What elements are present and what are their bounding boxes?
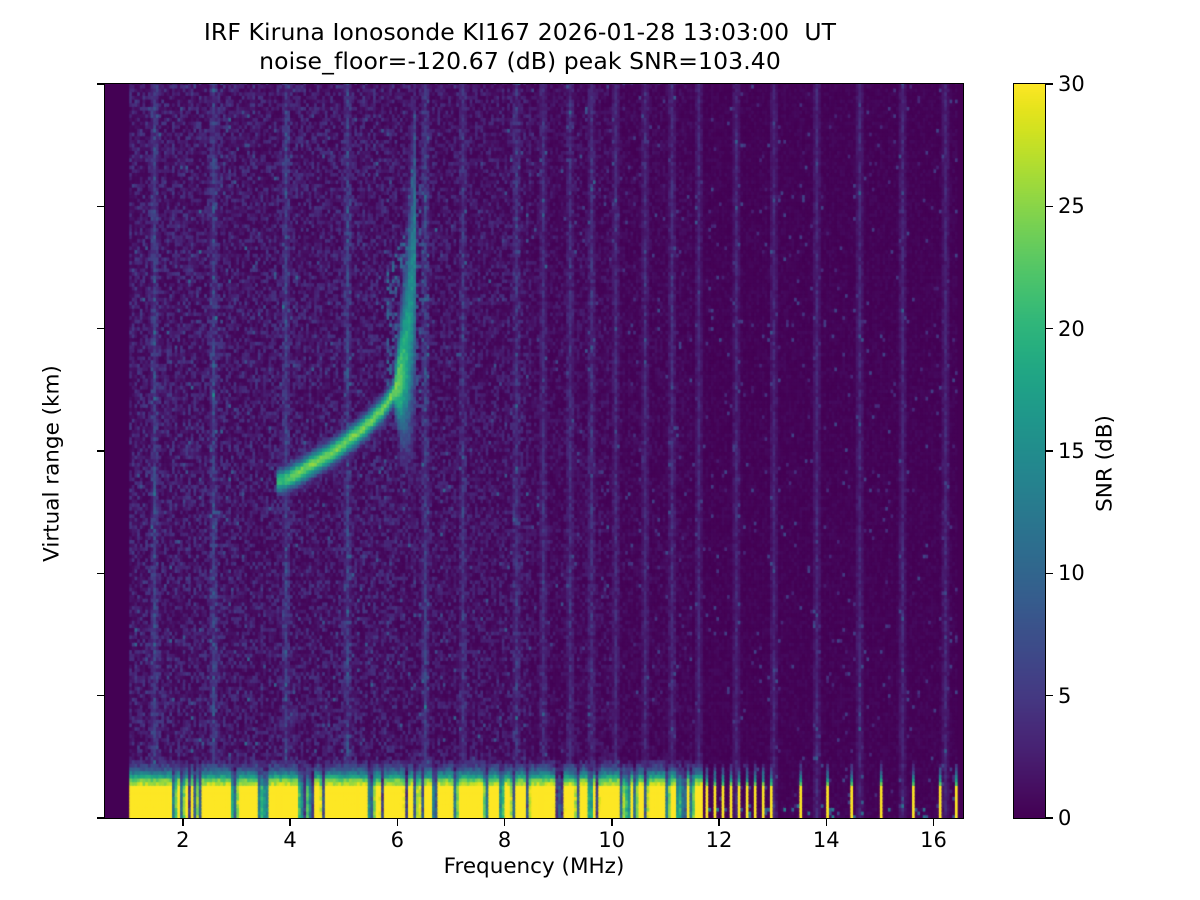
colorbar-tick-mark [1046, 450, 1053, 452]
x-tick-label: 14 [813, 828, 840, 852]
title-line-1: IRF Kiruna Ionosonde KI167 2026-01-28 13… [0, 18, 1040, 47]
x-tick-label: 12 [706, 828, 733, 852]
y-tick-mark [97, 450, 104, 452]
x-tick-label: 6 [391, 828, 404, 852]
colorbar-tick-mark [1046, 83, 1053, 85]
y-tick-mark [97, 695, 104, 697]
x-tick-label: 8 [498, 828, 511, 852]
colorbar-tick-label: 10 [1058, 561, 1085, 585]
x-tick-label: 16 [920, 828, 947, 852]
colorbar-tick-label: 5 [1058, 684, 1071, 708]
x-tick-label: 2 [176, 828, 189, 852]
ionogram-figure: IRF Kiruna Ionosonde KI167 2026-01-28 13… [0, 0, 1200, 900]
x-tick-label: 10 [598, 828, 625, 852]
colorbar-gradient [1014, 84, 1045, 818]
x-tick-mark [397, 819, 399, 826]
figure-title: IRF Kiruna Ionosonde KI167 2026-01-28 13… [0, 18, 1040, 76]
ionogram-heatmap [105, 84, 963, 818]
colorbar-tick-mark [1046, 328, 1053, 330]
colorbar-tick-mark [1046, 817, 1053, 819]
x-tick-mark [933, 819, 935, 826]
x-tick-mark [826, 819, 828, 826]
colorbar-tick-label: 30 [1058, 72, 1085, 96]
colorbar-tick-label: 20 [1058, 317, 1085, 341]
x-axis-label: Frequency (MHz) [104, 854, 964, 879]
ionogram-plot-area [104, 83, 964, 819]
colorbar-tick-label: 25 [1058, 194, 1085, 218]
x-tick-mark [289, 819, 291, 826]
x-tick-mark [611, 819, 613, 826]
y-axis-label: Virtual range (km) [40, 164, 65, 764]
title-line-2: noise_floor=-120.67 (dB) peak SNR=103.40 [0, 47, 1040, 76]
y-tick-mark [97, 206, 104, 208]
x-tick-mark [504, 819, 506, 826]
y-tick-mark [97, 817, 104, 819]
y-tick-mark [97, 573, 104, 575]
y-tick-mark [97, 328, 104, 330]
x-tick-label: 4 [283, 828, 296, 852]
y-tick-mark [97, 83, 104, 85]
colorbar-tick-mark [1046, 206, 1053, 208]
x-tick-mark [718, 819, 720, 826]
colorbar-tick-label: 0 [1058, 806, 1071, 830]
colorbar-label: SNR (dB) [1093, 164, 1118, 764]
x-tick-mark [182, 819, 184, 826]
colorbar-tick-label: 15 [1058, 439, 1085, 463]
colorbar-tick-mark [1046, 573, 1053, 575]
colorbar [1013, 83, 1046, 819]
colorbar-tick-mark [1046, 695, 1053, 697]
